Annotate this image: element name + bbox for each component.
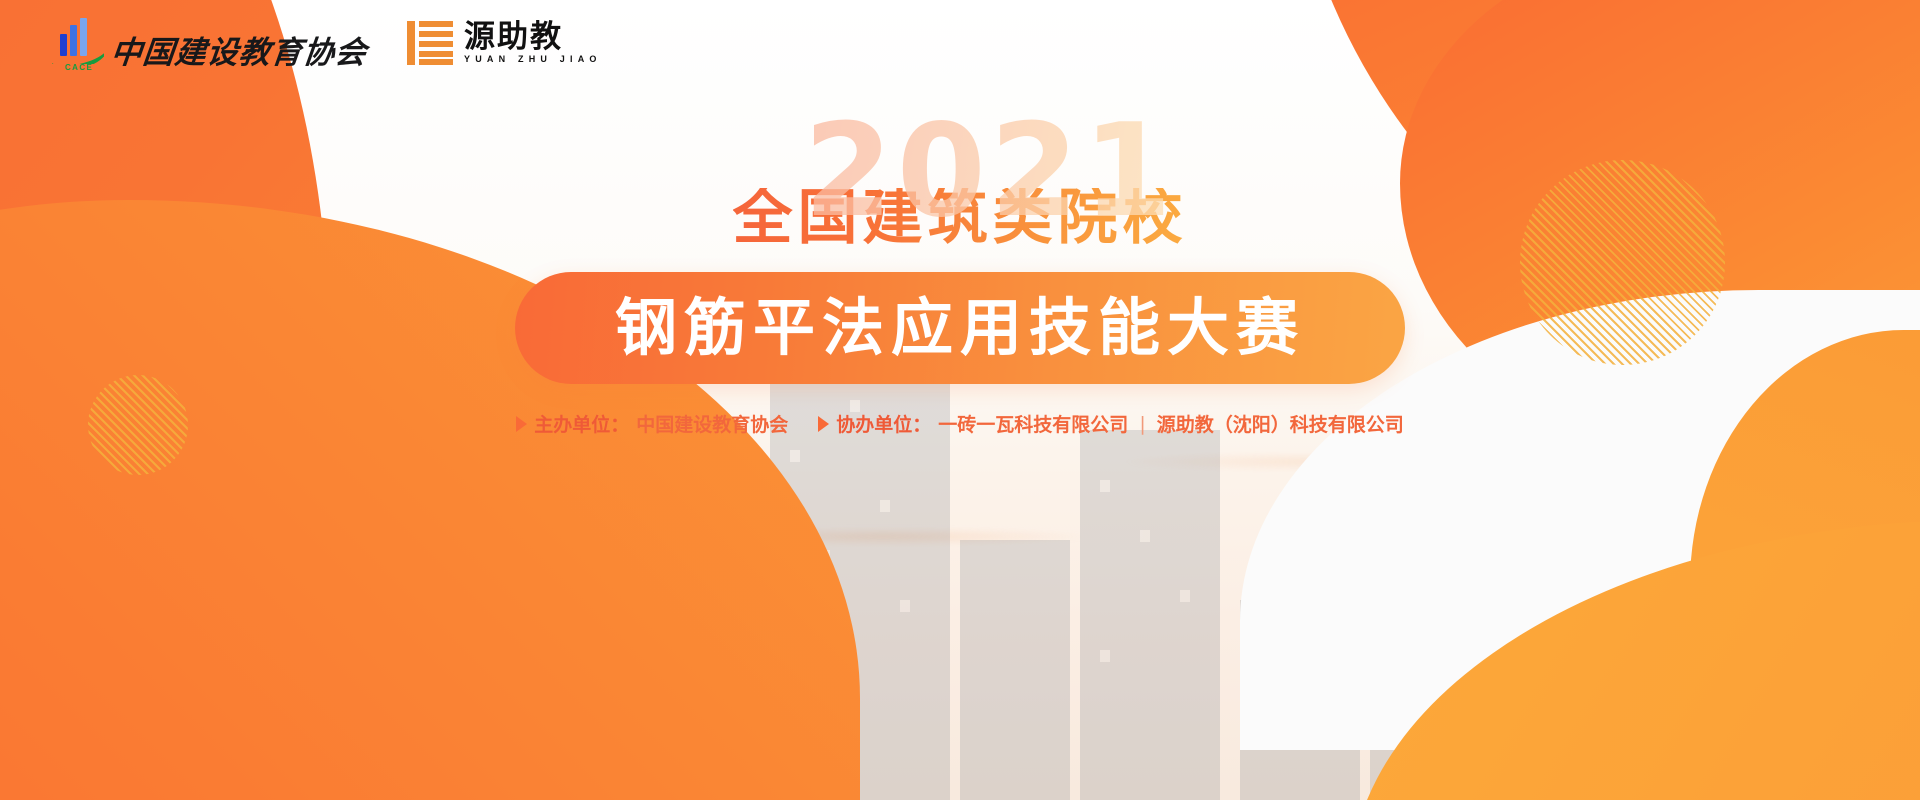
yuanzhujiao-striped-square-icon <box>407 21 453 65</box>
organizer-line: 主办单位： 中国建设教育协会 协办单位： 一砖一瓦科技有限公司 | 源助教（沈阳… <box>516 410 1403 437</box>
yuanzhujiao-pinyin: YUAN ZHU JIAO <box>464 55 602 64</box>
year-watermark: 2021 <box>804 108 1176 236</box>
organizer-divider: | <box>1139 413 1145 435</box>
chevron-right-icon <box>516 416 527 432</box>
cace-building-bars-icon: CACE <box>52 18 104 68</box>
cace-logo-name: 中国建设教育协会 <box>109 37 368 68</box>
organizer-host: 主办单位： 中国建设教育协会 <box>516 410 788 437</box>
organizer-host-label: 主办单位： <box>534 410 629 437</box>
cace-abbr: CACE <box>65 63 93 72</box>
yuanzhujiao-name: 源助教 <box>464 22 602 53</box>
event-title: 钢筋平法应用技能大赛 <box>615 297 1305 359</box>
yuanzhujiao-logo: 源助教 YUAN ZHU JIAO <box>407 21 602 65</box>
year-watermark-wrap: 2021 <box>0 108 1920 236</box>
logo-row: CACE 中国建设教育协会 源助教 YUAN ZHU JIAO <box>52 18 602 68</box>
organizer-coorg: 协办单位： 一砖一瓦科技有限公司 | 源助教（沈阳）科技有限公司 <box>818 410 1403 437</box>
organizer-coorg-value-2: 源助教（沈阳）科技有限公司 <box>1157 410 1404 437</box>
organizer-coorg-label: 协办单位： <box>836 410 931 437</box>
event-title-pill: 钢筋平法应用技能大赛 <box>515 272 1405 384</box>
promo-banner: CACE 中国建设教育协会 源助教 YUAN ZHU JIAO 2021 全国建… <box>0 0 1920 800</box>
chevron-right-icon <box>818 416 829 432</box>
organizer-coorg-value: 一砖一瓦科技有限公司 <box>938 410 1128 437</box>
headline-block: 2021 全国建筑类院校 钢筋平法应用技能大赛 主办单位： 中国建设教育协会 协… <box>0 108 1920 437</box>
organizer-host-value: 中国建设教育协会 <box>636 410 788 437</box>
cace-logo: CACE 中国建设教育协会 <box>52 18 367 68</box>
